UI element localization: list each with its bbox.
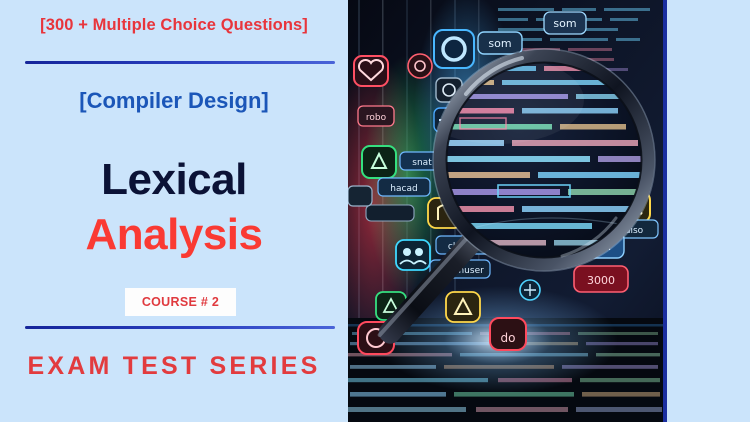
course-number-label: COURSE # 2 <box>142 295 219 309</box>
course-title-slide: [300 + Multiple Choice Questions] [Compi… <box>0 0 750 422</box>
svg-text:robo: robo <box>366 113 387 123</box>
svg-text:3000: 3000 <box>587 274 615 287</box>
title-line-2: Analysis <box>0 213 348 257</box>
subject-label: [Compiler Design] <box>0 88 348 114</box>
divider-top <box>25 61 335 64</box>
magnifier-code-illustration: som som robo <box>348 0 663 422</box>
svg-text:som: som <box>488 37 511 50</box>
exam-series-label: EXAM TEST SERIES <box>0 352 348 381</box>
svg-text:snat: snat <box>412 158 432 168</box>
svg-text:do: do <box>501 331 516 345</box>
svg-text:hacad: hacad <box>390 184 417 194</box>
course-number-badge: COURSE # 2 <box>125 288 236 316</box>
mcq-banner: [300 + Multiple Choice Questions] <box>0 16 348 35</box>
svg-text:som: som <box>553 17 576 30</box>
divider-bottom <box>25 326 335 329</box>
illustration-canvas: som som robo <box>348 0 663 422</box>
rail-accent-stripe <box>663 0 667 422</box>
left-text-column: [300 + Multiple Choice Questions] [Compi… <box>0 0 348 422</box>
right-rail: B bodhisattwa das <box>663 0 750 422</box>
title-line-1: Lexical <box>0 158 348 202</box>
